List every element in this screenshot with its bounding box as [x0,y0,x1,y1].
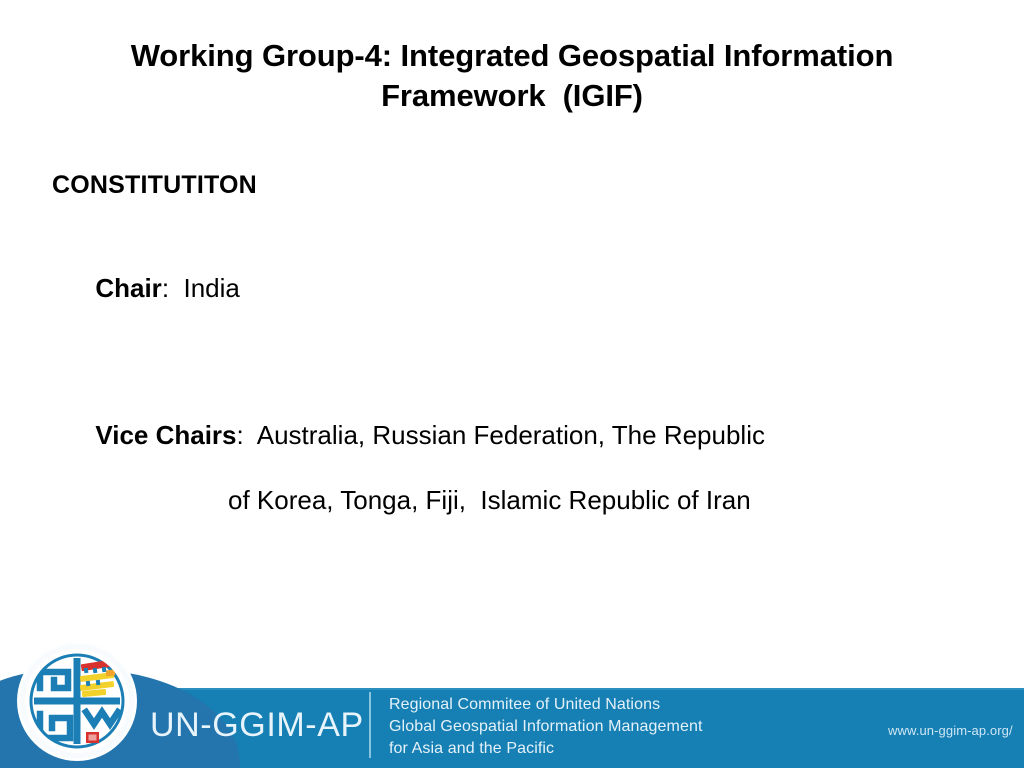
section-heading-constitution: CONSTITUTITON [52,172,982,200]
vice-chairs-label: Vice Chairs [95,420,236,450]
un-ggim-ap-emblem-icon [14,638,140,764]
footer-brand-name: UN-GGIM-AP [150,708,364,742]
footer-website-url[interactable]: www.un-ggim-ap.org/ [888,723,1013,738]
chair-label: Chair [95,273,161,303]
footer-desc-line-2: Global Geospatial Information Management [389,716,703,738]
footer-banner: UN-GGIM-AP Regional Commitee of United N… [0,686,1024,768]
title-line-1: Working Group-4: Integrated Geospatial I… [52,36,972,76]
chair-row: Chair: India [52,245,982,332]
slide-body: CONSTITUTITON Chair: India Vice Chairs: … [52,172,982,515]
chair-value: : India [162,273,240,303]
vice-chairs-value: : Australia, Russian Federation, The Rep… [237,420,765,450]
footer-content: UN-GGIM-AP Regional Commitee of United N… [0,686,1024,768]
slide-canvas: Working Group-4: Integrated Geospatial I… [0,0,1024,768]
footer-brand-description: Regional Commitee of United Nations Glob… [389,694,703,760]
vice-chairs-row: Vice Chairs: Australia, Russian Federati… [52,392,982,479]
title-line-2: Framework (IGIF) [52,76,972,116]
footer-desc-line-3: for Asia and the Pacific [389,738,703,760]
footer-desc-line-1: Regional Commitee of United Nations [389,694,703,716]
footer-divider [369,692,371,758]
vice-chairs-value-continued: of Korea, Tonga, Fiji, Islamic Republic … [52,486,982,515]
page-title: Working Group-4: Integrated Geospatial I… [52,36,972,115]
